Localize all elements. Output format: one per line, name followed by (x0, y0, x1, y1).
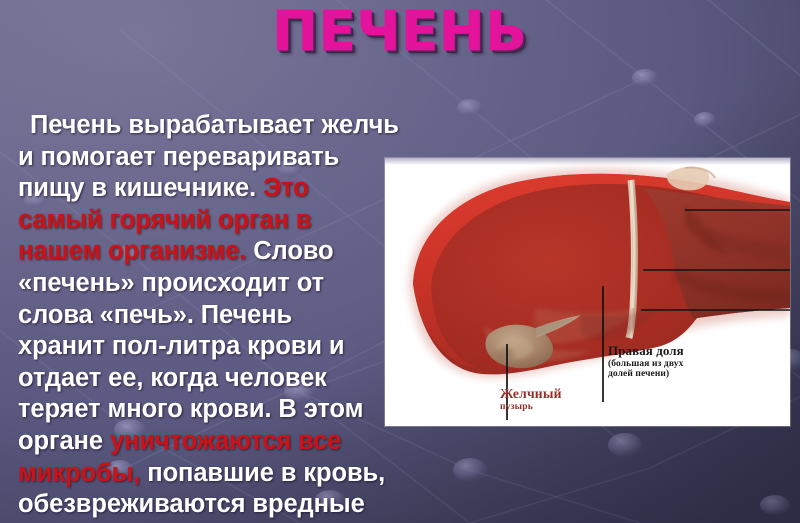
text-segment: слова «печь». Печень (18, 301, 292, 329)
text-segment: отдает ее, когда человек (18, 364, 327, 392)
text-line: нашем организме. Слово (18, 236, 390, 268)
text-line: микробы, попавшие в кровь, (18, 458, 390, 490)
slide-title: ПЕЧЕНЬ (0, 4, 800, 61)
text-segment: и помогает переваривать (18, 143, 339, 171)
label-gallbladder-subtitle: пузырь (500, 402, 562, 413)
text-line: самый горячий орган в (18, 205, 390, 237)
text-segment: органе (18, 427, 110, 455)
body-text-block: Печень вырабатывает желчь и помогает пер… (18, 110, 390, 523)
text-line: отдает ее, когда человек (18, 363, 390, 395)
liver-anatomy-figure: Желчный пузырь Правая доля (большая из д… (385, 158, 790, 426)
text-line: обезвреживаются вредные (18, 489, 390, 521)
text-line: «печень» происходит от (18, 268, 390, 300)
highlight-segment: самый горячий орган в (18, 206, 311, 234)
label-right-lobe-subtitle-1: (большая из двух (608, 359, 684, 370)
highlight-segment: уничтожаются все (110, 427, 341, 455)
label-right-lobe: Правая доля (большая из двух долей печен… (608, 344, 684, 380)
text-segment: «печень» происходит от (18, 269, 324, 297)
text-segment: Слово (246, 237, 333, 265)
text-line: органе уничтожаются все (18, 426, 390, 458)
highlight-segment: нашем организме. (18, 237, 246, 265)
text-segment: теряет много крови. В этом (18, 395, 363, 423)
text-line: слова «печь». Печень (18, 300, 390, 332)
text-line: хранит пол-литра крови и (18, 331, 390, 363)
label-right-lobe-title: Правая доля (608, 343, 684, 358)
highlight-segment: Это (263, 174, 309, 202)
highlight-segment: микробы, (18, 459, 140, 487)
text-line: и помогает переваривать (18, 142, 390, 174)
text-segment: Печень вырабатывает желчь (30, 111, 399, 139)
label-gallbladder: Желчный пузырь (500, 386, 562, 413)
text-segment: обезвреживаются вредные (18, 490, 365, 518)
text-line: теряет много крови. В этом (18, 394, 390, 426)
liver-illustration (385, 158, 790, 426)
text-segment: хранит пол-литра крови и (18, 332, 344, 360)
label-gallbladder-title: Желчный (500, 386, 562, 401)
label-right-lobe-subtitle-2: долей печени) (608, 369, 684, 380)
text-segment: попавшие в кровь, (140, 459, 385, 487)
slide-canvas: ПЕЧЕНЬ Печень вырабатывает желчь и помог… (0, 0, 800, 523)
text-segment: пищу в кишечнике. (18, 174, 263, 202)
text-line: пищу в кишечнике. Это (18, 173, 390, 205)
text-line: Печень вырабатывает желчь (18, 110, 390, 142)
